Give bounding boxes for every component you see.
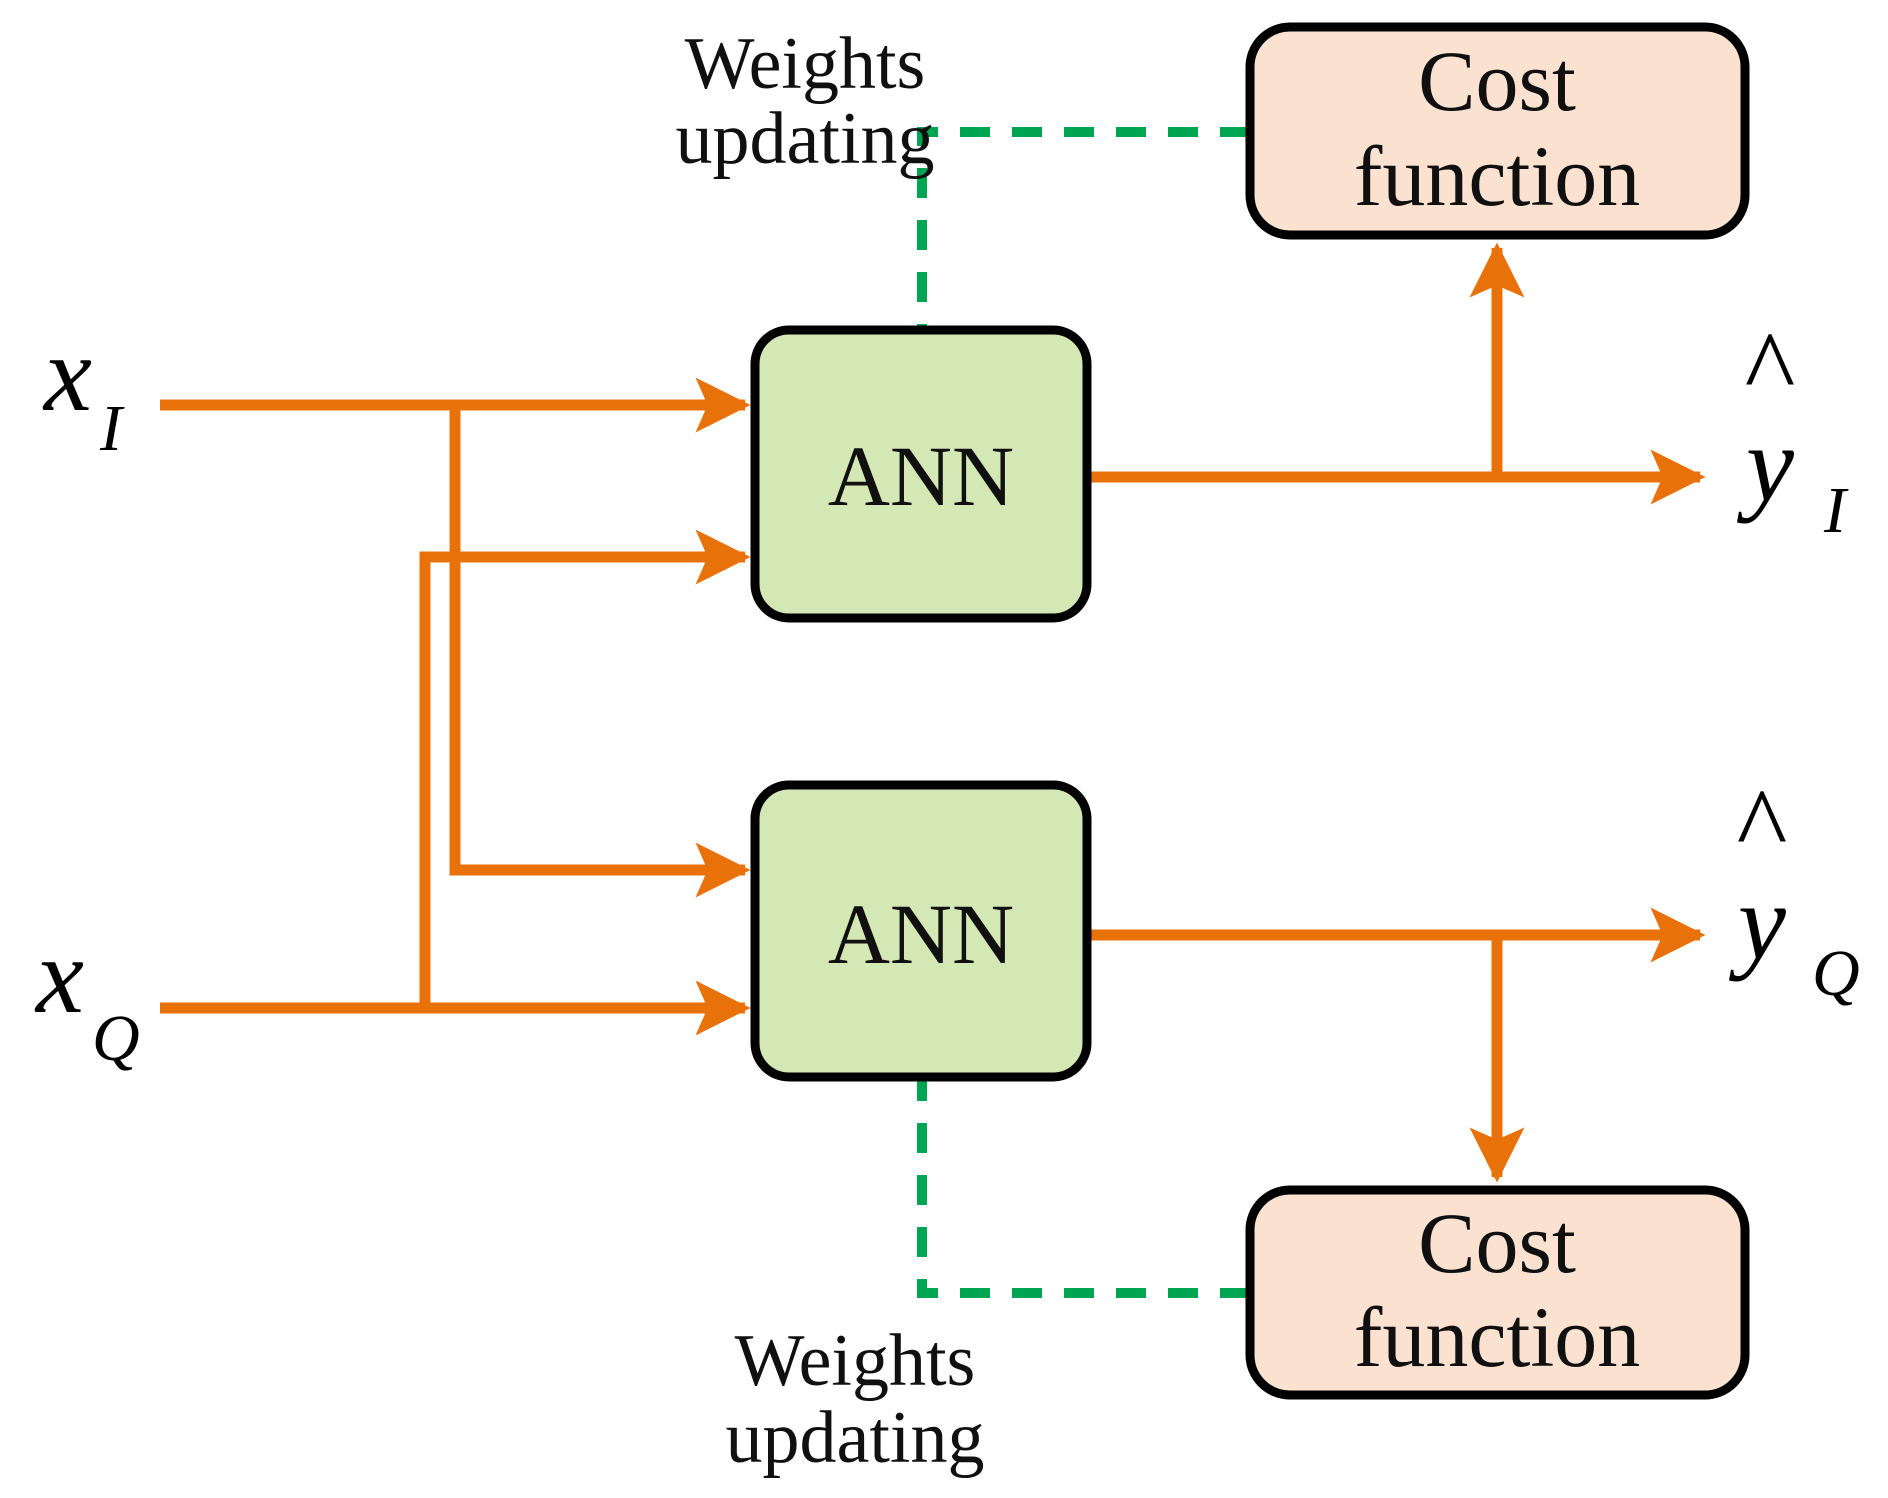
signal-label-output-i: ^ y I [1736,310,1849,547]
signal-label-output-q: ^ y Q [1728,767,1860,1010]
cost-top-label-line1: Cost [1418,33,1576,129]
weights-bottom-line2: updating [726,1397,985,1479]
input-q-subscript: Q [92,1002,140,1075]
edge-xq-branch-to-ann-top-in2 [425,557,745,1008]
weights-bottom-line1: Weights [735,1320,976,1402]
diagram-canvas: ANN ANN Cost function Cost function Weig… [0,0,1888,1498]
input-i-symbol: x [42,315,92,434]
output-q-subscript: Q [1812,937,1860,1010]
input-q-symbol: x [34,917,84,1036]
output-i-subscript: I [1823,474,1849,547]
edge-xi-branch-to-ann-bottom-in1 [455,405,745,870]
ann-top-label: ANN [828,428,1014,524]
edge-cost-bottom-to-ann-bottom-weights [922,1077,1250,1293]
input-i-subscript: I [99,392,125,465]
block-cost-bottom[interactable]: Cost function [1250,1190,1745,1395]
cost-bottom-label-line2: function [1354,1289,1641,1385]
block-ann-bottom[interactable]: ANN [755,785,1087,1077]
ann-bottom-label: ANN [828,886,1014,982]
weights-top-line1: Weights [685,23,926,105]
edge-cost-top-to-ann-top-weights [922,132,1250,330]
signal-label-input-i: x I [42,315,125,465]
cost-bottom-label-line1: Cost [1418,1195,1576,1291]
block-ann-top[interactable]: ANN [755,330,1087,618]
block-diagram-svg: ANN ANN Cost function Cost function Weig… [0,0,1888,1498]
signal-label-input-q: x Q [34,917,140,1075]
cost-top-label-line2: function [1354,128,1641,224]
annotation-weights-updating-top: Weights updating [676,23,935,180]
annotation-weights-updating-bottom: Weights updating [726,1320,985,1479]
weights-top-line2: updating [676,98,935,180]
block-cost-top[interactable]: Cost function [1250,27,1745,235]
